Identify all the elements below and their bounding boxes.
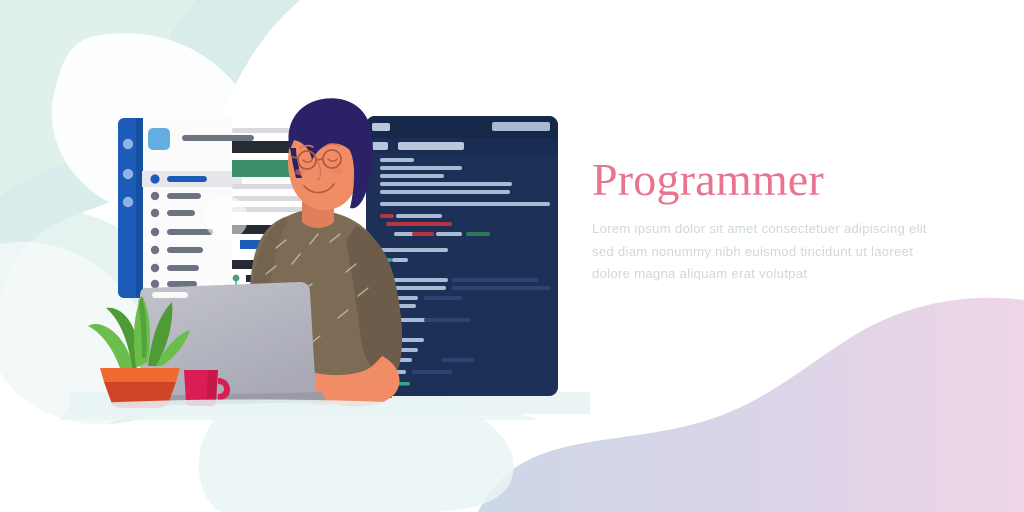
laptop-top-stripe — [152, 292, 188, 298]
window-side-rail — [118, 118, 143, 298]
list-row-active — [142, 171, 242, 187]
rail-dot — [123, 139, 133, 149]
text-block: Programmer Lorem ipsum dolor sit amet co… — [592, 156, 972, 286]
cheek — [333, 168, 343, 175]
page-title: Programmer — [592, 156, 972, 204]
rail-dot — [123, 197, 133, 207]
cheek — [295, 169, 305, 176]
page-subtitle: Lorem ipsum dolor sit amet consectetuer … — [592, 218, 952, 286]
list-item — [151, 209, 195, 217]
rail-dot — [123, 169, 133, 179]
illustration-banner: Programmer Lorem ipsum dolor sit amet co… — [0, 0, 1024, 512]
